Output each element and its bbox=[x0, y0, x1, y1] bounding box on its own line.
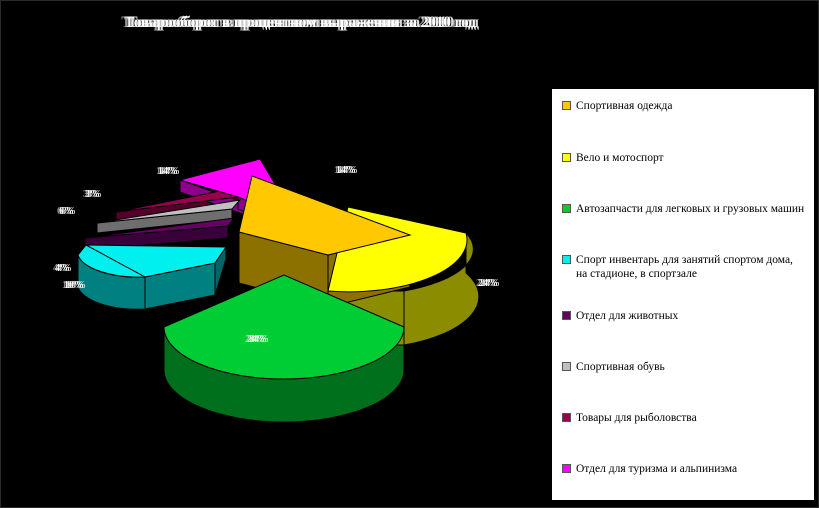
legend-label-sport-shoes: Спортивная обувь bbox=[576, 360, 665, 374]
legend-swatch-fishing bbox=[562, 413, 571, 422]
legend-item-tourism[interactable]: Отдел для туризма и альпинизма bbox=[562, 462, 806, 476]
legend-item-velo-moto[interactable]: Вело и мотоспорт bbox=[562, 151, 806, 165]
legend-swatch-sportswear bbox=[562, 101, 571, 110]
legend-swatch-tourism bbox=[562, 464, 571, 473]
legend-item-sportswear[interactable]: Спортивная одежда bbox=[562, 99, 806, 113]
legend-item-animals[interactable]: Отдел для животных bbox=[562, 309, 806, 323]
pie-chart-svg bbox=[0, 55, 545, 475]
pie-chart: 14% 14% 14% 24% 24% 24% 24% 24% 24% 10% … bbox=[0, 55, 545, 475]
legend-item-sport-inventory[interactable]: Спорт инвентарь для занятий спортом дома… bbox=[562, 253, 806, 281]
legend-label-sportswear: Спортивная одежда bbox=[576, 99, 672, 113]
legend-label-sport-inventory: Спорт инвентарь для занятий спортом дома… bbox=[576, 253, 806, 281]
legend-swatch-autoparts bbox=[562, 204, 571, 213]
chart-legend: Спортивная одежда Вело и мотоспорт Автоз… bbox=[551, 88, 815, 501]
legend-swatch-sport-inventory bbox=[562, 255, 571, 264]
legend-label-tourism: Отдел для туризма и альпинизма bbox=[576, 462, 737, 476]
legend-label-fishing: Товары для рыболовства bbox=[576, 411, 697, 425]
chart-title-main: Товарооборот в процентном выражении за 2… bbox=[0, 14, 600, 32]
legend-swatch-sport-shoes bbox=[562, 362, 571, 371]
legend-label-velo-moto: Вело и мотоспорт bbox=[576, 151, 664, 165]
legend-swatch-animals bbox=[562, 311, 571, 320]
legend-item-autoparts[interactable]: Автозапчасти для легковых и грузовых маш… bbox=[562, 202, 806, 216]
legend-item-sport-shoes[interactable]: Спортивная обувь bbox=[562, 360, 806, 374]
legend-item-fishing[interactable]: Товары для рыболовства bbox=[562, 411, 806, 425]
chart-canvas: Товарооборот в процентном выражении за 2… bbox=[0, 0, 819, 508]
legend-label-animals: Отдел для животных bbox=[576, 309, 678, 323]
legend-label-autoparts: Автозапчасти для легковых и грузовых маш… bbox=[576, 202, 804, 216]
legend-swatch-velo-moto bbox=[562, 153, 571, 162]
